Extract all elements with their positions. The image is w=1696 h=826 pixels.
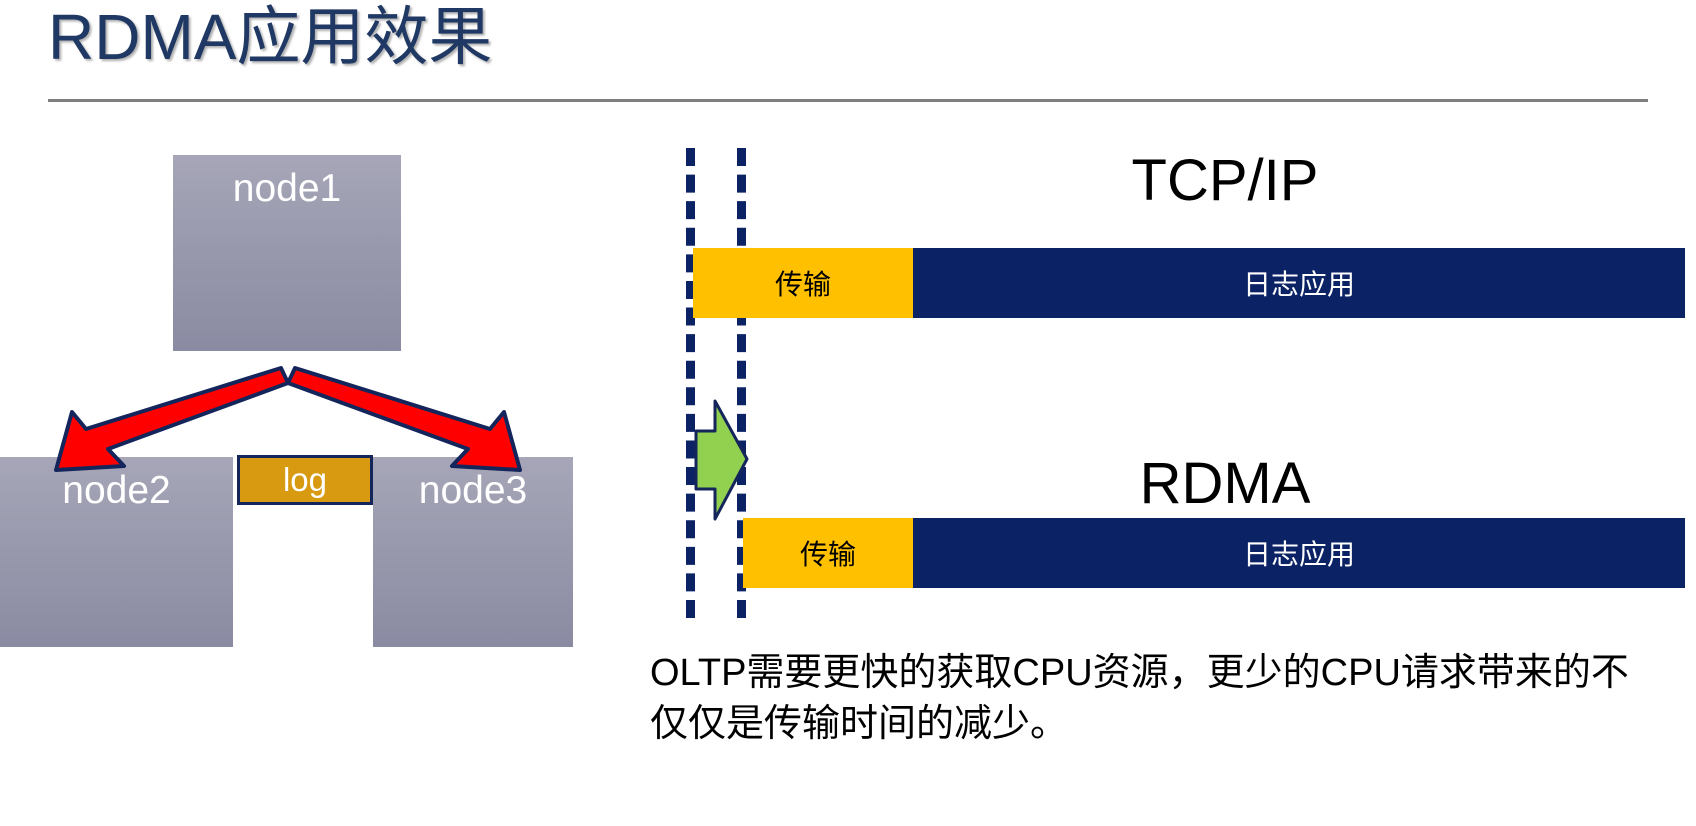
rdma-app-segment: 日志应用 [913,518,1685,588]
page-title: RDMA应用效果 [48,2,492,72]
tcpip-transfer-segment: 传输 [693,248,913,318]
caption-text: OLTP需要更快的获取CPU资源，更少的CPU请求带来的不仅仅是传输时间的减少。 [650,648,1660,751]
tcpip-transfer-label: 传输 [775,263,831,303]
tcpip-app-segment: 日志应用 [913,248,1685,318]
rdma-heading: RDMA [995,455,1455,513]
rdma-app-label: 日志应用 [1243,533,1355,573]
dashed-guide-start [686,148,695,618]
rdma-transfer-label: 传输 [800,533,856,573]
node-box-node1: node1 [173,155,401,351]
node1-label: node1 [233,167,341,210]
log-label: log [283,461,327,498]
slide-canvas: RDMA应用效果 node1 node2 node3 log TCP/IP 传输… [0,0,1696,826]
rdma-transfer-segment: 传输 [743,518,913,588]
title-divider [48,99,1648,102]
improvement-arrow-icon [690,395,750,525]
tcpip-heading: TCP/IP [995,152,1455,210]
tcpip-app-label: 日志应用 [1243,263,1355,303]
log-box: log [237,455,373,505]
